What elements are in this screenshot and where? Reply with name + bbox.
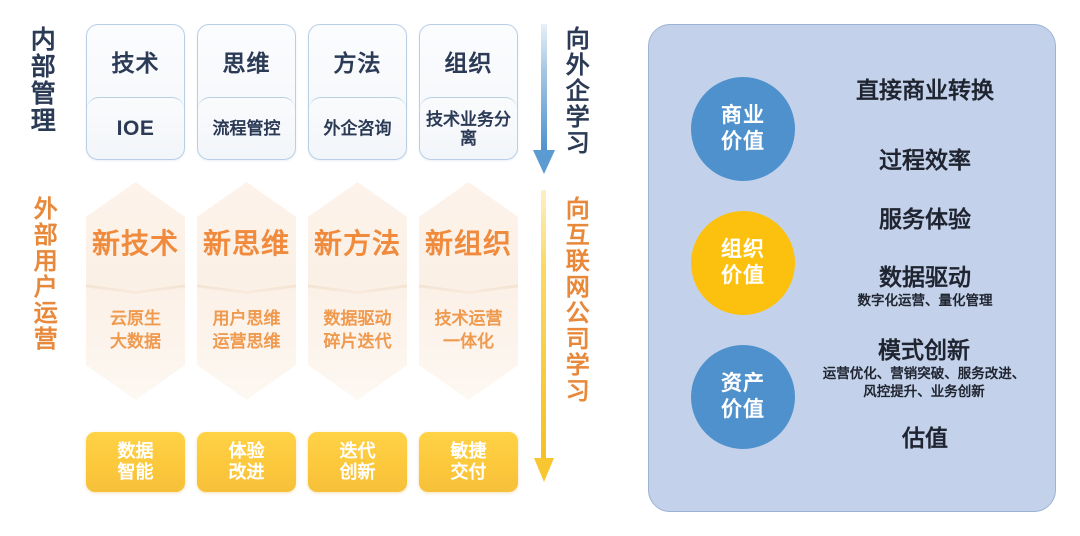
value-item-valuation: 估值 xyxy=(811,425,1039,453)
outcome-chip-iterative-innovation[interactable]: 迭代创新 xyxy=(308,432,407,492)
outcome-chip-row: 数据智能 体验改进 迭代创新 敏捷交付 xyxy=(86,432,518,492)
value-panel: 商业价值 组织价值 资产价值 直接商业转换 过程效率 服务体验 数据驱动 数字化… xyxy=(648,24,1056,512)
pillar-new-organization[interactable]: 新组织 技术运营一体化 xyxy=(419,182,518,400)
pillar-new-organization-sub: 技术运营一体化 xyxy=(419,308,518,354)
value-item-data-driven: 数据驱动 数字化运营、量化管理 xyxy=(801,264,1049,310)
top-card-thinking-head: 思维 xyxy=(198,25,295,97)
pillar-new-method-sub: 数据驱动碎片迭代 xyxy=(308,308,407,354)
pillar-new-method[interactable]: 新方法 数据驱动碎片迭代 xyxy=(308,182,407,400)
pillar-shape xyxy=(308,182,407,400)
pillar-shape xyxy=(197,182,296,400)
outcome-chip-data-intelligence[interactable]: 数据智能 xyxy=(86,432,185,492)
top-card-organization-head: 组织 xyxy=(420,25,517,97)
top-card-organization[interactable]: 组织 技术业务分离 xyxy=(419,24,518,160)
pillar-new-technology-sub: 云原生大数据 xyxy=(86,308,185,354)
down-arrow-orange-icon xyxy=(527,190,561,485)
top-card-thinking-body: 流程管控 xyxy=(198,97,295,159)
value-item-model-innovation: 模式创新 运营优化、营销突破、服务改进、风控提升、业务创新 xyxy=(795,337,1053,401)
top-card-method-body: 外企咨询 xyxy=(309,97,406,159)
value-item-process-efficiency: 过程效率 xyxy=(811,147,1039,175)
pillar-new-technology[interactable]: 新技术 云原生大数据 xyxy=(86,182,185,400)
top-card-method[interactable]: 方法 外企咨询 xyxy=(308,24,407,160)
pillar-new-thinking-title: 新思维 xyxy=(197,222,296,262)
pillar-new-organization-title: 新组织 xyxy=(419,222,518,262)
circle-business-value[interactable]: 商业价值 xyxy=(691,77,795,181)
circle-asset-value[interactable]: 资产价值 xyxy=(691,345,795,449)
pillar-new-thinking[interactable]: 新思维 用户思维运营思维 xyxy=(197,182,296,400)
outcome-chip-agile-delivery[interactable]: 敏捷交付 xyxy=(419,432,518,492)
pillar-row: 新技术 云原生大数据 新思维 用户思维运营思维 新方法 数据驱动碎片迭代 新组织… xyxy=(86,182,518,400)
pillar-new-technology-title: 新技术 xyxy=(86,222,185,262)
pillar-shape xyxy=(86,182,185,400)
top-card-technology-head: 技术 xyxy=(87,25,184,97)
pillar-new-method-title: 新方法 xyxy=(308,222,407,262)
value-item-direct-business-conversion: 直接商业转换 xyxy=(811,77,1039,105)
internal-management-label: 内部管理 xyxy=(28,26,54,154)
value-item-service-experience: 服务体验 xyxy=(811,206,1039,234)
diagram-root: 内部管理 技术 IOE 思维 流程管控 方法 外企咨询 组织 技术业务分离 xyxy=(0,0,1080,536)
learn-from-foreign-firms-label: 向外企学习 xyxy=(562,26,587,178)
external-user-operations-label: 外部用户运营 xyxy=(30,196,55,396)
down-arrow-blue-icon xyxy=(527,24,561,176)
pillar-new-thinking-sub: 用户思维运营思维 xyxy=(197,308,296,354)
learn-from-internet-firms-label: 向互联网公司学习 xyxy=(562,196,587,486)
circle-organization-value[interactable]: 组织价值 xyxy=(691,211,795,315)
top-card-organization-body: 技术业务分离 xyxy=(420,97,517,159)
top-card-row: 技术 IOE 思维 流程管控 方法 外企咨询 组织 技术业务分离 xyxy=(86,24,518,160)
top-card-technology-body: IOE xyxy=(87,97,184,159)
outcome-chip-experience-improvement[interactable]: 体验改进 xyxy=(197,432,296,492)
pillar-shape xyxy=(419,182,518,400)
top-card-technology[interactable]: 技术 IOE xyxy=(86,24,185,160)
top-card-method-head: 方法 xyxy=(309,25,406,97)
top-card-thinking[interactable]: 思维 流程管控 xyxy=(197,24,296,160)
